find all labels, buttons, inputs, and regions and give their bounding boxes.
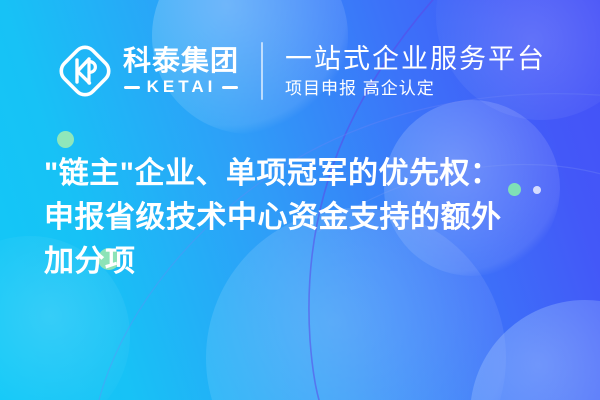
accent-dot-green-left: [57, 131, 74, 148]
ketai-logo-icon: [56, 42, 114, 100]
headline-line-2: 申报省级技术中心资金支持的额外: [44, 196, 564, 240]
promo-banner: 科泰集团 KETAI 一站式企业服务平台 项目申报 高企认定 "链主"企业、单项…: [0, 0, 600, 400]
header-divider: [261, 42, 263, 100]
decorative-circle-bottom-right: [470, 300, 600, 400]
headline: "链主"企业、单项冠军的优先权： 申报省级技术中心资金支持的额外 加分项: [44, 152, 564, 284]
brand-rule-left-icon: [124, 86, 140, 89]
brand-name-en: KETAI: [147, 78, 217, 96]
slogan-main-text: 一站式企业服务平台: [285, 43, 546, 75]
slogan-sub-text: 项目申报 高企认定: [285, 78, 546, 100]
banner-header: 科泰集团 KETAI 一站式企业服务平台 项目申报 高企认定: [0, 34, 600, 108]
headline-line-3: 加分项: [44, 240, 564, 284]
brand-rule-right-icon: [222, 86, 238, 89]
brand-lockup: 科泰集团 KETAI 一站式企业服务平台 项目申报 高企认定: [0, 42, 546, 100]
brand-text-block: 科泰集团 KETAI: [123, 46, 239, 96]
slogan-block: 一站式企业服务平台 项目申报 高企认定: [285, 43, 546, 100]
brand-name-cn: 科泰集团: [123, 46, 239, 76]
headline-line-1: "链主"企业、单项冠军的优先权：: [44, 152, 564, 196]
brand-name-en-row: KETAI: [123, 78, 239, 96]
